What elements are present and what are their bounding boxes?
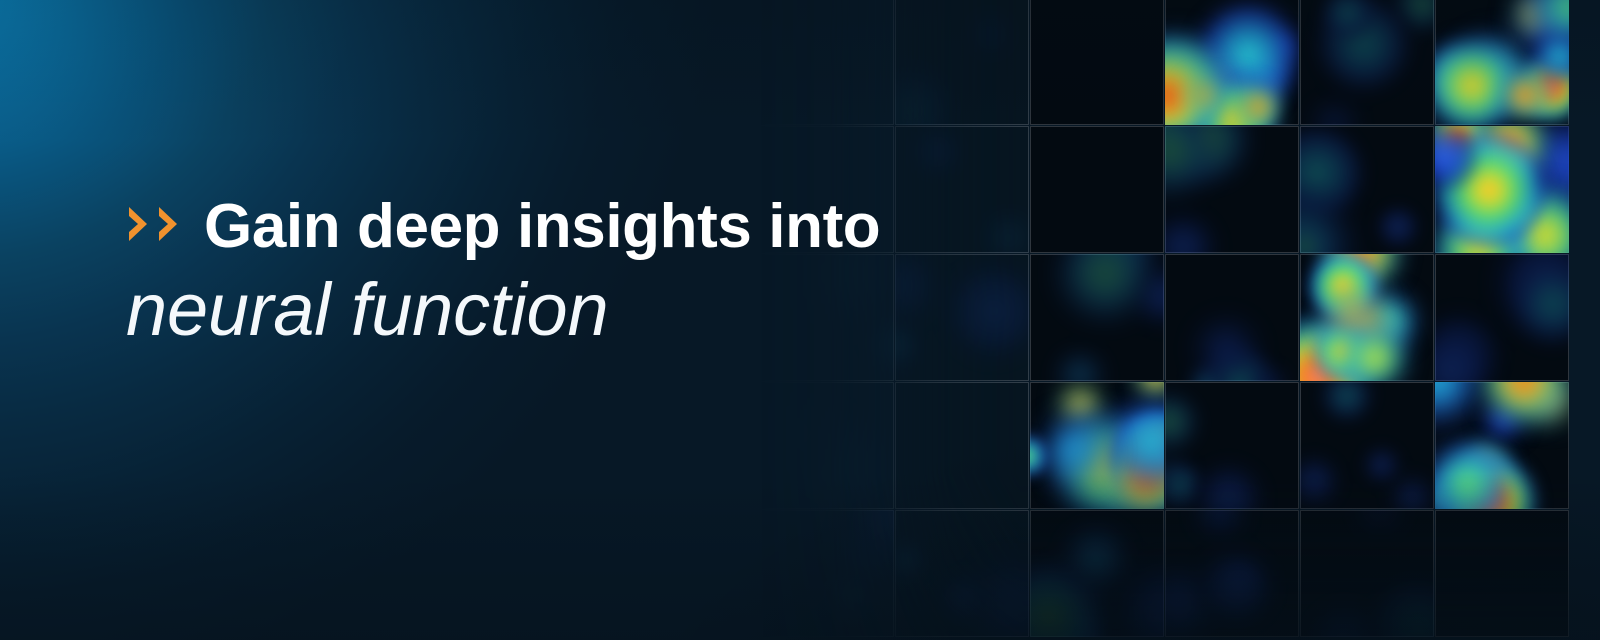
- headline-block: Gain deep insights into neural function: [126, 196, 1026, 350]
- headline-line-1-text: Gain deep insights into: [204, 196, 880, 258]
- headline-line-1: Gain deep insights into: [126, 196, 1026, 258]
- headline-line-2-text: neural function: [126, 270, 1026, 350]
- double-chevron-right-icon: [126, 204, 182, 244]
- hero-banner: Gain deep insights into neural function: [0, 0, 1600, 640]
